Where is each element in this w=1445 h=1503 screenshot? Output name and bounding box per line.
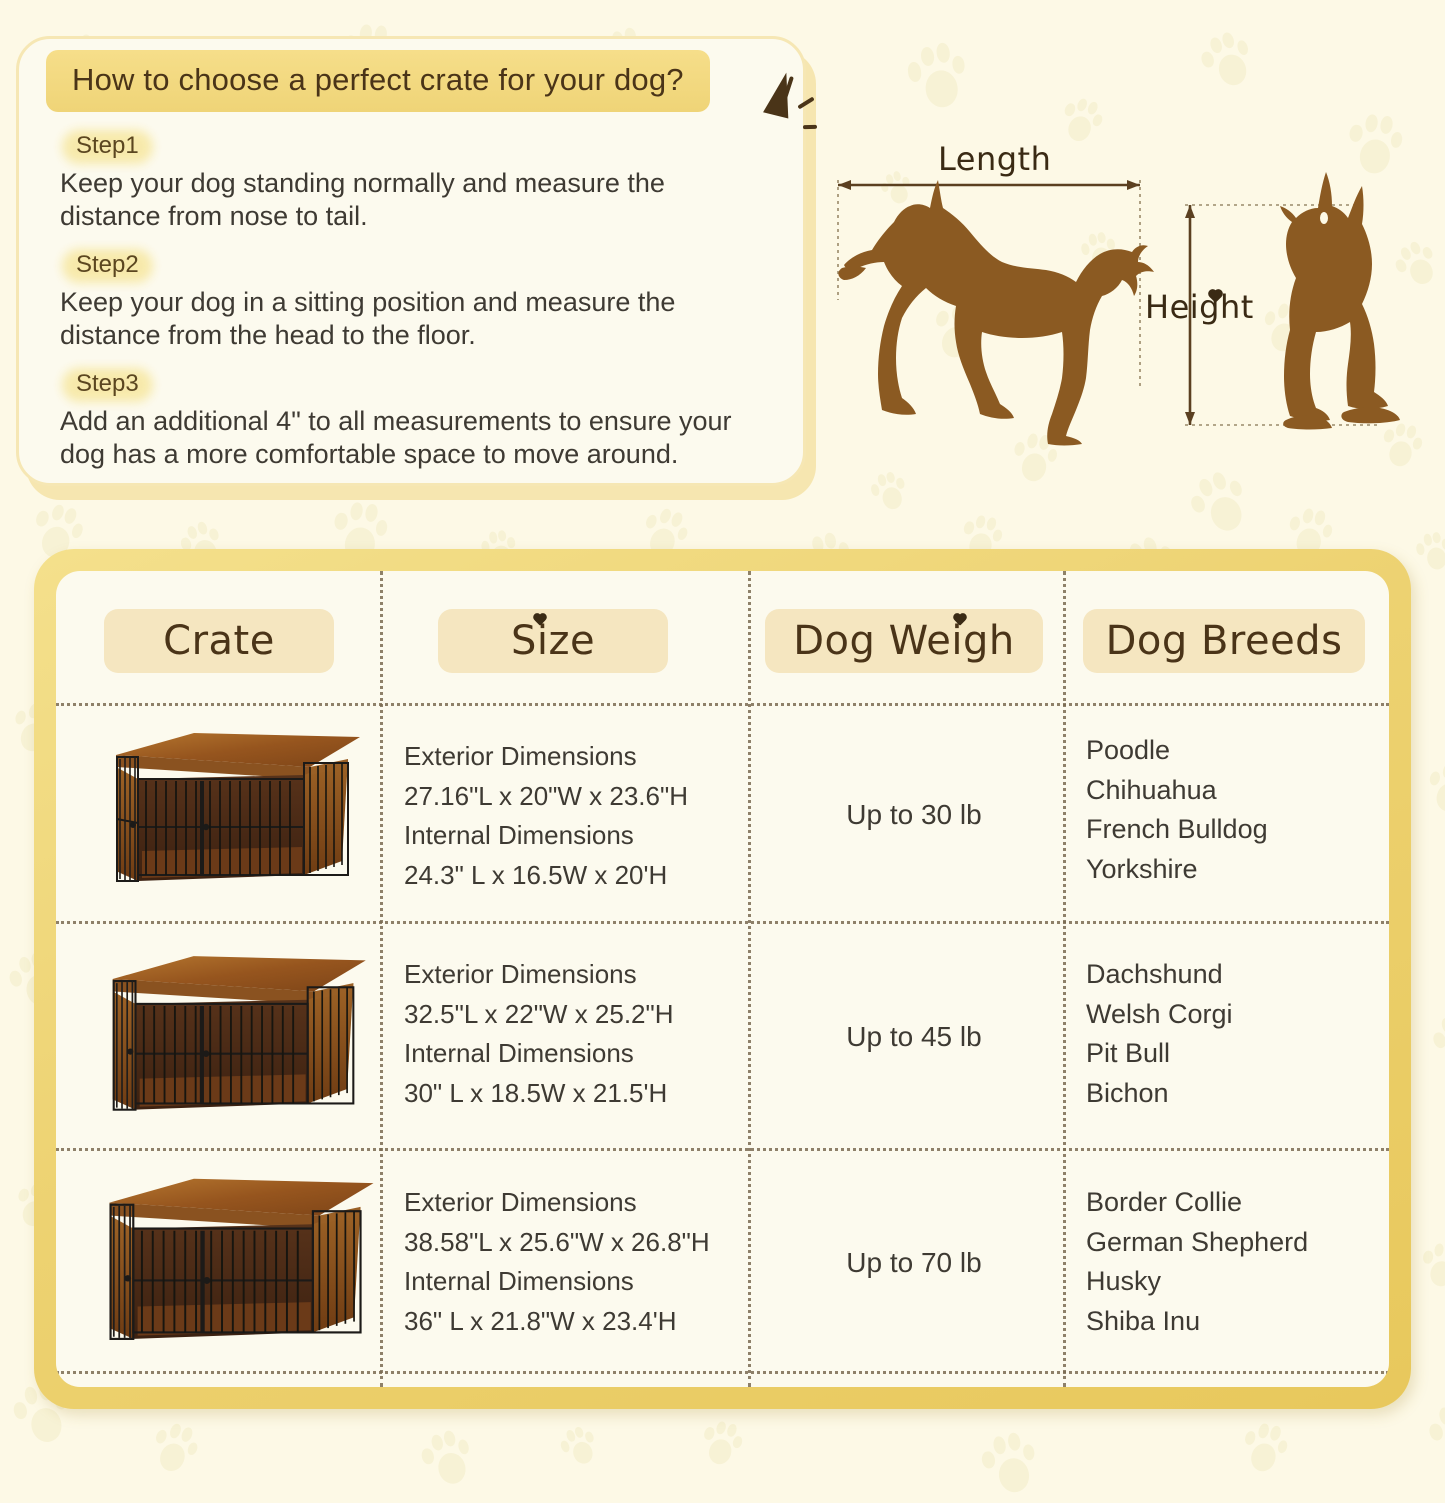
cell-breeds: Poodle Chihuahua French Bulldog Yorkshir…	[1086, 731, 1268, 890]
table-row	[90, 1163, 380, 1359]
step-badge-1: Step1	[62, 128, 153, 165]
step-text-1: Keep your dog standing normally and meas…	[60, 167, 770, 233]
step-badge-label: Step1	[76, 132, 139, 159]
cell-size: Exterior Dimensions 38.58"L x 25.6"W x 2…	[404, 1183, 754, 1341]
paw-icon	[1420, 1393, 1445, 1474]
paw-icon	[141, 1413, 205, 1482]
cell-size: Exterior Dimensions 27.16"L x 20"W x 23.…	[404, 737, 734, 895]
step-badge-label: Step3	[76, 370, 139, 397]
diagram-svg	[820, 0, 1445, 500]
crate-size-table: Crate Size Dog Weigh Dog Breeds	[34, 549, 1411, 1409]
cell-weight: Up to 70 lb	[774, 1247, 1054, 1279]
paw-icon	[1412, 527, 1445, 576]
paw-icon	[693, 1413, 748, 1473]
table-row	[94, 943, 372, 1127]
medium-dog-crate-image	[94, 943, 372, 1127]
steps-banner-title: How to choose a perfect crate for your d…	[46, 50, 710, 112]
step-badge-3: Step3	[62, 366, 153, 403]
banner-sparkle-icon	[762, 50, 798, 116]
paw-icon	[1423, 1003, 1445, 1079]
step-badge-2: Step2	[62, 247, 153, 284]
large-dog-crate-image	[90, 1163, 380, 1359]
column-header-size: Size	[438, 609, 668, 673]
cell-weight: Up to 45 lb	[774, 1021, 1054, 1053]
paw-icon	[1233, 1415, 1293, 1482]
column-header-dog-breeds: Dog Breeds	[1083, 609, 1365, 673]
table-row	[98, 723, 366, 895]
small-dog-crate-image	[98, 723, 366, 895]
paw-icon	[1416, 1237, 1445, 1293]
step-text-3: Add an additional 4" to all measurements…	[60, 405, 770, 471]
length-label: Length	[938, 140, 1051, 178]
paw-icon	[554, 1420, 603, 1473]
cell-breeds: Dachshund Welsh Corgi Pit Bull Bichon	[1086, 955, 1233, 1114]
height-label: Height	[1145, 288, 1254, 326]
cell-breeds: Border Collie German Shepherd Husky Shib…	[1086, 1183, 1308, 1342]
paw-icon	[1419, 755, 1445, 820]
step-text-2: Keep your dog in a sitting position and …	[60, 286, 770, 352]
paw-icon	[413, 1423, 478, 1496]
cell-weight: Up to 30 lb	[774, 799, 1054, 831]
column-header-dog-weigh: Dog Weigh	[765, 609, 1043, 673]
paw-icon	[975, 1426, 1043, 1503]
cell-size: Exterior Dimensions 32.5"L x 22"W x 25.2…	[404, 955, 734, 1113]
step-badge-label: Step2	[76, 251, 139, 278]
dog-measurement-diagram: Length Height	[820, 0, 1445, 500]
column-header-crate: Crate	[104, 609, 334, 673]
